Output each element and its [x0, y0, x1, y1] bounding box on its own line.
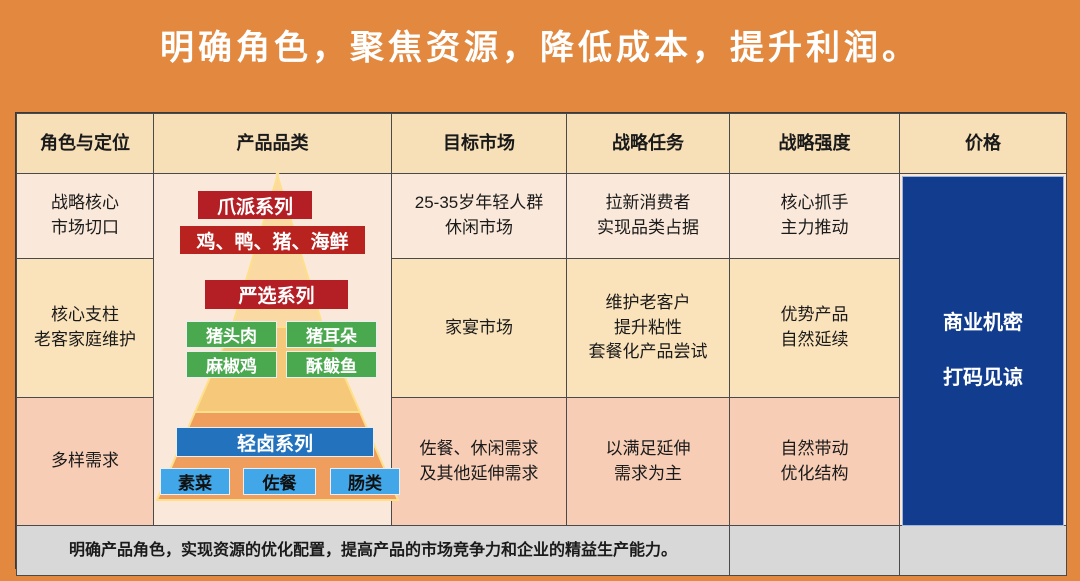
cell-task-3: 以满足延伸 需求为主	[567, 398, 730, 526]
intensity-2-line-1: 优势产品	[734, 303, 895, 328]
market-1-line-1: 25-35岁年轻人群	[396, 191, 562, 216]
table-header-row: 角色与定位 产品品类 目标市场 战略任务 战略强度 价格	[17, 114, 1067, 174]
chip-zuocan[interactable]: 佐餐	[243, 468, 316, 495]
footer-empty-cell-1	[730, 526, 900, 576]
header-cell-intensity: 战略强度	[730, 114, 900, 174]
cell-intensity-2: 优势产品 自然延续	[730, 259, 900, 398]
role-1-line-2: 市场切口	[21, 216, 149, 241]
chip-changlei[interactable]: 肠类	[330, 468, 400, 495]
footer-summary-cell: 明确产品角色，实现资源的优化配置，提高产品的市场竞争力和企业的精益生产能力。	[17, 526, 730, 576]
role-2-line-1: 核心支柱	[21, 303, 149, 328]
task-1-line-1: 拉新消费者	[571, 191, 725, 216]
secret-line-1: 商业机密	[943, 309, 1023, 338]
task-2-line-3: 套餐化产品尝试	[571, 340, 725, 365]
cell-market-3: 佐餐、休闲需求 及其他延伸需求	[392, 398, 567, 526]
footer-empty-cell-2	[900, 526, 1067, 576]
table-footer-row: 明确产品角色，实现资源的优化配置，提高产品的市场竞争力和企业的精益生产能力。	[17, 526, 1067, 576]
task-3-line-1: 以满足延伸	[571, 437, 725, 462]
header-cell-category: 产品品类	[154, 114, 392, 174]
chip-sucai[interactable]: 素菜	[160, 468, 230, 495]
task-3-line-2: 需求为主	[571, 462, 725, 487]
cell-market-1: 25-35岁年轻人群 休闲市场	[392, 174, 567, 259]
task-1-line-2: 实现品类占据	[571, 216, 725, 241]
chip-qinglu-series[interactable]: 轻卤系列	[176, 427, 374, 457]
chip-zhuapai-items[interactable]: 鸡、鸭、猪、海鲜	[180, 226, 365, 254]
intensity-3-line-2: 优化结构	[734, 462, 895, 487]
chip-subayu[interactable]: 酥鲅鱼	[286, 351, 377, 378]
intensity-1-line-2: 主力推动	[734, 216, 895, 241]
cell-task-1: 拉新消费者 实现品类占据	[567, 174, 730, 259]
header-cell-market: 目标市场	[392, 114, 567, 174]
market-3-line-1: 佐餐、休闲需求	[396, 437, 562, 462]
cell-intensity-1: 核心抓手 主力推动	[730, 174, 900, 259]
secret-line-2: 打码见谅	[943, 364, 1023, 393]
table-row: 战略核心 市场切口 25-35岁年轻人群 休闲市场 拉新消费者 实现品类占据 核…	[17, 174, 1067, 259]
intensity-3-line-1: 自然带动	[734, 437, 895, 462]
strategy-table-wrapper: 角色与定位 产品品类 目标市场 战略任务 战略强度 价格 战略核心 市场切口 2…	[15, 112, 1065, 569]
role-3-line-1: 多样需求	[21, 449, 149, 474]
cell-task-2: 维护老客户 提升粘性 套餐化产品尝试	[567, 259, 730, 398]
intensity-2-line-2: 自然延续	[734, 328, 895, 353]
intensity-1-line-1: 核心抓手	[734, 191, 895, 216]
header-cell-price: 价格	[900, 114, 1067, 174]
strategy-table: 角色与定位 产品品类 目标市场 战略任务 战略强度 价格 战略核心 市场切口 2…	[16, 113, 1067, 576]
cell-role-3: 多样需求	[17, 398, 154, 526]
secret-box: 商业机密 打码见谅	[902, 176, 1064, 526]
slide-canvas: 明确角色，聚焦资源，降低成本，提升利润。 角色与定位 产品品类 目标市场 战略任…	[0, 0, 1080, 581]
chip-zhuerduo[interactable]: 猪耳朵	[286, 321, 377, 348]
market-3-line-2: 及其他延伸需求	[396, 462, 562, 487]
cell-price-secret: 商业机密 打码见谅	[900, 174, 1067, 526]
cell-role-2: 核心支柱 老客家庭维护	[17, 259, 154, 398]
cell-role-1: 战略核心 市场切口	[17, 174, 154, 259]
cell-intensity-3: 自然带动 优化结构	[730, 398, 900, 526]
header-cell-role: 角色与定位	[17, 114, 154, 174]
chip-zhutourou[interactable]: 猪头肉	[186, 321, 277, 348]
role-2-line-2: 老客家庭维护	[21, 328, 149, 353]
cell-market-2: 家宴市场	[392, 259, 567, 398]
task-2-line-1: 维护老客户	[571, 291, 725, 316]
market-1-line-2: 休闲市场	[396, 216, 562, 241]
chip-zhuapai-series[interactable]: 爪派系列	[198, 191, 312, 219]
role-1-line-1: 战略核心	[21, 191, 149, 216]
chip-majiaoji[interactable]: 麻椒鸡	[186, 351, 277, 378]
slide-title: 明确角色，聚焦资源，降低成本，提升利润。	[0, 28, 1080, 69]
market-2-line-1: 家宴市场	[396, 316, 562, 341]
header-cell-task: 战略任务	[567, 114, 730, 174]
task-2-line-2: 提升粘性	[571, 316, 725, 341]
chip-yanxuan-series[interactable]: 严选系列	[205, 280, 348, 309]
